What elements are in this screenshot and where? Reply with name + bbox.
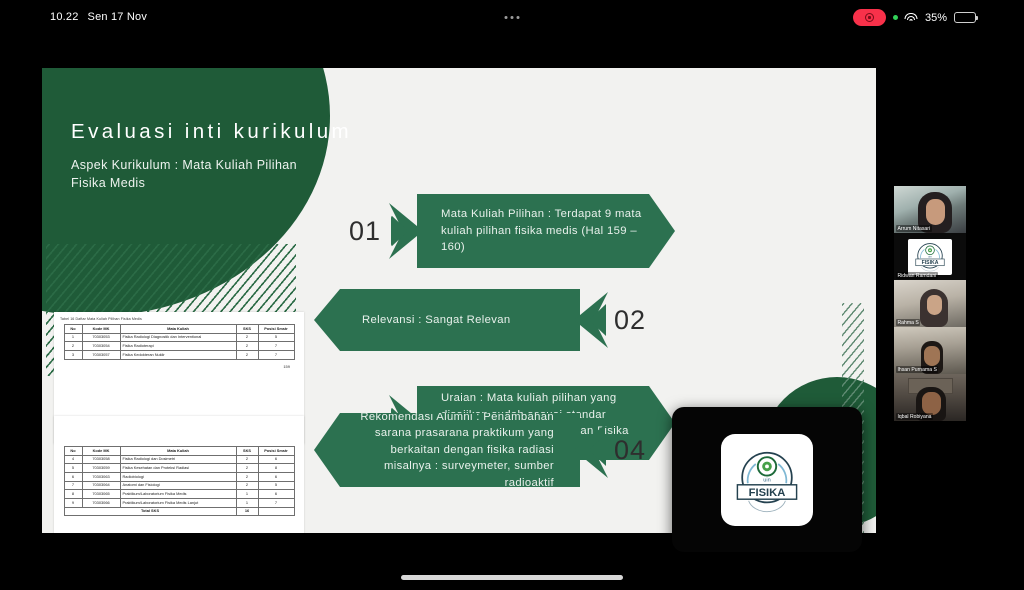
table-mata-kuliah-2: No Kode MK Mata Kuliah SKS Posisi Smstr …: [64, 446, 295, 516]
battery-icon: [954, 12, 976, 23]
participant-tile-2[interactable]: Rahma S: [894, 280, 966, 327]
arrow-banner-01: Mata Kuliah Pilihan : Terdapat 9 mata ku…: [417, 194, 675, 268]
item-02-text: Relevansi : Sangat Relevan: [362, 312, 511, 329]
slide-subtitle: Aspek Kurikulum : Mata Kuliah Pilihan Fi…: [71, 156, 311, 192]
table-row: 5 70303059 Fisika Kesehatan dan Proteksi…: [64, 464, 294, 473]
tablet-screen: 10.22 Sen 17 Nov 35% Evaluasi inti kurik…: [0, 0, 1024, 590]
camera-active-dot-icon: [893, 15, 898, 20]
participant-name-4: Iqbal Robiyana: [896, 413, 933, 420]
participant-name-0: Arrum Nitasari: [896, 225, 932, 232]
table-mata-kuliah-1: No Kode MK Mata Kuliah SKS Posisi Smstr …: [64, 324, 295, 360]
slide-item-04: Rekomendasi Alumni : Penambahan sarana p…: [314, 413, 646, 487]
floating-self-view[interactable]: uin FISIKA: [672, 407, 862, 552]
slide-item-01: Mata Kuliah Pilihan : Terdapat 9 mata ku…: [389, 194, 675, 268]
item-04-number: 04: [614, 435, 646, 466]
item-02-number: 02: [614, 305, 646, 336]
fisika-logo-icon: uin FISIKA: [908, 239, 952, 275]
item-01-text: Mata Kuliah Pilihan : Terdapat 9 mata ku…: [441, 206, 645, 256]
clock-time: 10.22: [50, 11, 79, 23]
status-bar-right: 35%: [853, 9, 976, 26]
table-header-row: No Kode MK Mata Kuliah SKS Posisi Smstr: [64, 325, 294, 334]
table-row: 4 70303058 Fisika Radiologi dan Dosimetr…: [64, 455, 294, 464]
table-row: 3 70303057 Fisika Kedokteran Nuklir 2 7: [64, 351, 294, 360]
slide-title: Evaluasi inti kurikulum: [71, 120, 352, 144]
home-indicator[interactable]: [401, 575, 623, 580]
item-04-text: Rekomendasi Alumni : Penambahan sarana p…: [358, 409, 554, 492]
participant-tile-1[interactable]: uin FISIKA Ridwan Ramdani: [894, 233, 966, 280]
clock-date: Sen 17 Nov: [88, 11, 147, 23]
status-bar: 10.22 Sen 17 Nov 35%: [0, 0, 1024, 34]
chevron-left-icon-02: [574, 292, 608, 348]
table-row: 1 70303053 Fisika Radiologi Diagnostik d…: [64, 333, 294, 342]
document-page-160: No Kode MK Mata Kuliah SKS Posisi Smstr …: [54, 416, 304, 533]
table-row: 8 70303065 Praktikum/Laboratorium Fisika…: [64, 490, 294, 499]
participant-tile-0[interactable]: Arrum Nitasari: [894, 186, 966, 233]
table-row: 2 70303054 Fisika Radioterapi 2 7: [64, 342, 294, 351]
table1-caption: Tabel 16 Daftar Mata Kuliah Pilihan Fisi…: [54, 312, 304, 324]
participant-name-1: Ridwan Ramdani: [896, 272, 938, 279]
page-number: 159: [54, 360, 304, 369]
record-icon[interactable]: [853, 9, 886, 26]
participant-tile-4[interactable]: Iqbal Robiyana: [894, 374, 966, 421]
battery-percent: 35%: [925, 12, 947, 24]
wifi-icon: [905, 13, 918, 23]
slide-item-02: Relevansi : Sangat Relevan 02: [314, 289, 646, 351]
chevron-left-icon-04: [574, 422, 608, 478]
logo-main-text: FISIKA: [749, 487, 786, 499]
arrow-banner-04: Rekomendasi Alumni : Penambahan sarana p…: [314, 413, 580, 487]
table-row: 9 70303066 Praktikum/Laboratorium Fisika…: [64, 499, 294, 508]
participant-strip: Arrum Nitasari uin FISIKA Ridwan Ramdani: [894, 186, 966, 421]
table-total-row: Total SKS 16: [64, 507, 294, 516]
fisika-badge-large-svg: uin FISIKA: [727, 445, 807, 515]
table-header-row: No Kode MK Mata Kuliah SKS Posisi Smstr: [64, 447, 294, 456]
fisika-badge-svg: uin FISIKA: [909, 240, 951, 274]
participant-tile-3[interactable]: Ihsan Purnama S: [894, 327, 966, 374]
item-01-number: 01: [349, 216, 381, 247]
arrow-banner-02: Relevansi : Sangat Relevan: [314, 289, 580, 351]
status-bar-left: 10.22 Sen 17 Nov: [50, 11, 147, 23]
table-row: 7 70303064 Anatomi dan Fisiologi 2 5: [64, 481, 294, 490]
table-row: 6 70303063 Radiobiologi 2 6: [64, 473, 294, 482]
participant-name-3: Ihsan Purnama S: [896, 366, 938, 373]
more-dots-icon[interactable]: [505, 16, 520, 19]
fisika-logo-large-icon: uin FISIKA: [721, 434, 813, 526]
logo-sub-text: uin: [763, 477, 770, 483]
svg-text:FISIKA: FISIKA: [922, 260, 939, 266]
participant-name-2: Rahma S: [896, 319, 920, 326]
